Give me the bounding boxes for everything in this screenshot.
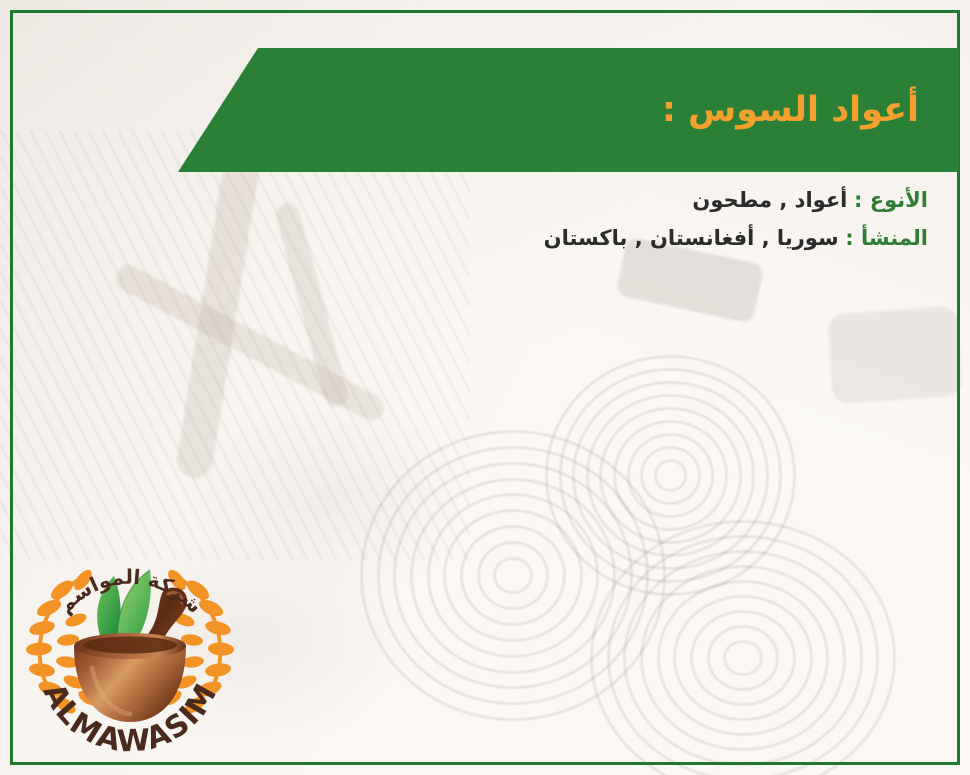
header-banner: أعواد السوس : xyxy=(178,48,959,172)
product-card: أعواد السوس : الأنوع : أعواد , مطحون الم… xyxy=(0,0,970,775)
info-row-origin: المنشأ : سوريا , أفغانستان , باكستان xyxy=(544,228,928,249)
licorice-stick xyxy=(827,306,963,405)
product-info: الأنوع : أعواد , مطحون المنشأ : سوريا , … xyxy=(544,190,928,266)
info-label-origin: المنشأ : xyxy=(845,226,928,250)
licorice-coil xyxy=(590,520,890,775)
coil-ring xyxy=(723,640,762,676)
info-value-types: أعواد , مطحون xyxy=(692,188,847,212)
info-row-types: الأنوع : أعواد , مطحون xyxy=(544,190,928,211)
info-value-origin: سوريا , أفغانستان , باكستان xyxy=(544,226,839,250)
info-label-types: الأنوع : xyxy=(854,188,928,212)
mortar-icon xyxy=(74,633,186,722)
coil-ring xyxy=(493,557,532,595)
company-logo: شركة المواسم ALMAWASIM xyxy=(18,528,242,756)
page-title: أعواد السوس : xyxy=(662,90,919,130)
coil-ring xyxy=(654,459,687,491)
